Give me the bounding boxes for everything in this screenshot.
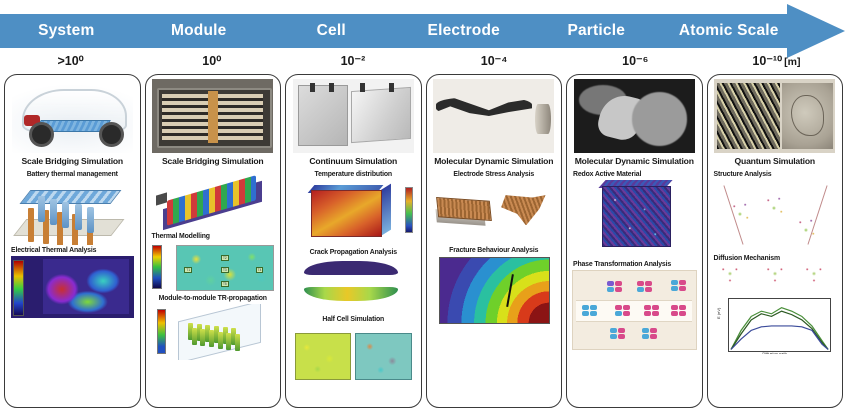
scale-exponent-row: >10⁰ 10⁰ 10⁻² 10⁻⁴ 10⁻⁶ 10⁻¹⁰[m] (0, 48, 847, 74)
section-label-half-cell-simulation: Half Cell Simulation (322, 316, 384, 323)
simulation-title-atomic: Quantum Simulation (735, 157, 815, 166)
sem-particle-photo (574, 79, 695, 153)
tr-colorbar (157, 309, 166, 354)
simulation-title-system: Scale Bridging Simulation (22, 157, 123, 166)
structure-analysis-figure (713, 179, 836, 253)
module-surface-field: T1 T2 T3 T4 T5 (176, 245, 274, 291)
ev-chassis-photo (12, 79, 133, 153)
exponent-module: 10⁰ (141, 48, 282, 74)
electrolyte-concentration-cube (355, 333, 411, 380)
section-label-fracture-behaviour-analysis: Fracture Behaviour Analysis (449, 247, 538, 254)
diffusion-ylabel: E (eV) (716, 308, 721, 319)
cell-temperature-distribution-figure (292, 179, 415, 247)
electrode-foil-photo (433, 79, 554, 153)
column-module: Scale Bridging Simulation Thermal Modell… (145, 74, 282, 408)
infrared-thermal-contour-figure (11, 256, 134, 318)
redox-active-material-figure (573, 179, 696, 259)
cell-pack-cooling-3d-figure (11, 179, 134, 245)
exponent-electrode: 10⁻⁴ (424, 48, 565, 74)
scale-unit: [m] (784, 56, 800, 68)
simulation-title-particle: Molecular Dynamic Simulation (575, 157, 694, 166)
half-cell-microstructure-figure (292, 324, 415, 380)
section-label-phase-transformation-analysis: Phase Transformation Analysis (573, 261, 671, 268)
electrode-stress-figure (432, 179, 555, 245)
state-of-lithiation-cube (295, 333, 351, 380)
module-temperature-contour-figure: T1 T2 T3 T4 T5 (151, 241, 274, 293)
exponent-system: >10⁰ (0, 48, 141, 74)
column-electrode: Molecular Dynamic Simulation Electrode S… (426, 74, 563, 408)
module-tr-propagation-figure (151, 304, 274, 360)
simulation-title-electrode: Molecular Dynamic Simulation (434, 157, 553, 166)
section-label-thermal-modelling: Thermal Modelling (152, 233, 210, 240)
fracture-contour-figure (432, 256, 555, 332)
crack-propagation-figure (292, 258, 415, 314)
scale-label-cell: Cell (265, 22, 398, 40)
pouch-prismatic-cell-photo (293, 79, 414, 153)
scale-level-labels: System Module Cell Electrode Particle At… (0, 14, 795, 48)
section-label-electrical-thermal-analysis: Electrical Thermal Analysis (11, 247, 96, 254)
exponent-atomic: 10⁻¹⁰[m] (706, 48, 847, 74)
tem-lattice-photo (714, 79, 835, 153)
powertrain-thermal-field (43, 259, 129, 314)
scale-label-particle: Particle (530, 22, 663, 40)
section-label-temperature-distribution: Temperature distribution (315, 171, 392, 178)
cell-temp-colorbar (405, 187, 413, 233)
multiscale-battery-simulation-figure: System Module Cell Electrode Particle At… (0, 0, 847, 419)
section-label-redox-active-material: Redox Active Material (573, 171, 641, 178)
energy-barrier-curves (729, 299, 830, 351)
simulation-title-cell: Continuum Simulation (309, 157, 397, 166)
scale-column-strip: Scale Bridging Simulation Battery therma… (0, 74, 847, 408)
diffusion-mechanism-figure: Diffusion path E (eV) (713, 264, 836, 354)
temperature-colorbar (13, 260, 24, 317)
exponent-cell: 10⁻² (282, 48, 423, 74)
module-colorbar (152, 245, 162, 289)
column-particle: Molecular Dynamic Simulation Redox Activ… (566, 74, 703, 408)
section-label-electrode-stress-analysis: Electrode Stress Analysis (453, 171, 534, 178)
module-cfd-3d-figure (151, 169, 274, 231)
column-cell: Continuum Simulation Temperature distrib… (285, 74, 422, 408)
column-system: Scale Bridging Simulation Battery therma… (4, 74, 141, 408)
column-atomic-scale: Quantum Simulation Structure Analysis Di… (707, 74, 844, 408)
scale-label-system: System (0, 22, 133, 40)
phase-transformation-figure (572, 270, 697, 350)
scale-arrow-banner: System Module Cell Electrode Particle At… (0, 0, 847, 48)
scale-label-electrode: Electrode (398, 22, 531, 40)
scale-label-atomic-scale: Atomic Scale (663, 22, 796, 40)
exponent-atomic-value: 10⁻¹⁰ (752, 54, 782, 68)
scale-label-module: Module (133, 22, 266, 40)
section-label-battery-thermal-management: Battery thermal management (27, 171, 118, 178)
section-label-diffusion-mechanism: Diffusion Mechanism (714, 255, 780, 262)
exponent-particle: 10⁻⁶ (565, 48, 706, 74)
diffusion-energy-plot (728, 298, 831, 352)
section-label-module-tr-propagation: Module-to-module TR-propagation (159, 295, 267, 302)
section-label-structure-analysis: Structure Analysis (714, 171, 772, 178)
simulation-title-module: Scale Bridging Simulation (162, 157, 263, 166)
battery-module-photo (152, 79, 273, 153)
section-label-crack-propagation-analysis: Crack Propagation Analysis (310, 249, 397, 256)
diffusion-xlabel: Diffusion path (762, 351, 786, 354)
